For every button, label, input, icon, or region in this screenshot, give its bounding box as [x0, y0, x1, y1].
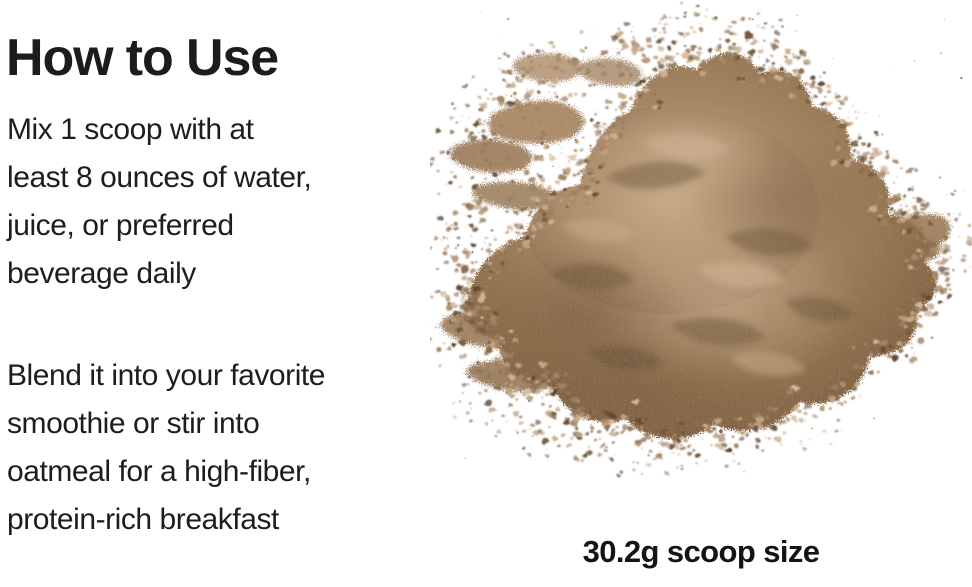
paragraph-2-line-2: smoothie or stir into [7, 400, 427, 448]
page-title: How to Use [6, 29, 278, 87]
paragraph-1-line-2: least 8 ounces of water, [7, 154, 427, 202]
usage-paragraph-2: Blend it into your favorite smoothie or … [7, 352, 427, 544]
powder-pile-illustration [430, 0, 972, 500]
paragraph-1-line-4: beverage daily [7, 250, 427, 298]
paragraph-1-line-1: Mix 1 scoop with at [7, 106, 427, 154]
powder-figure: 30.2g scoop size [430, 0, 972, 587]
how-to-use-panel: How to Use Mix 1 scoop with at least 8 o… [0, 0, 972, 587]
powder-image [430, 0, 972, 500]
usage-paragraph-1: Mix 1 scoop with at least 8 ounces of wa… [7, 106, 427, 298]
paragraph-2-line-4: protein-rich breakfast [7, 496, 427, 544]
scoop-size-caption: 30.2g scoop size [430, 534, 972, 570]
paragraph-1-line-3: juice, or preferred [7, 202, 427, 250]
paragraph-2-line-1: Blend it into your favorite [7, 352, 427, 400]
paragraph-2-line-3: oatmeal for a high-fiber, [7, 448, 427, 496]
instructions-column: How to Use Mix 1 scoop with at least 8 o… [6, 0, 426, 587]
